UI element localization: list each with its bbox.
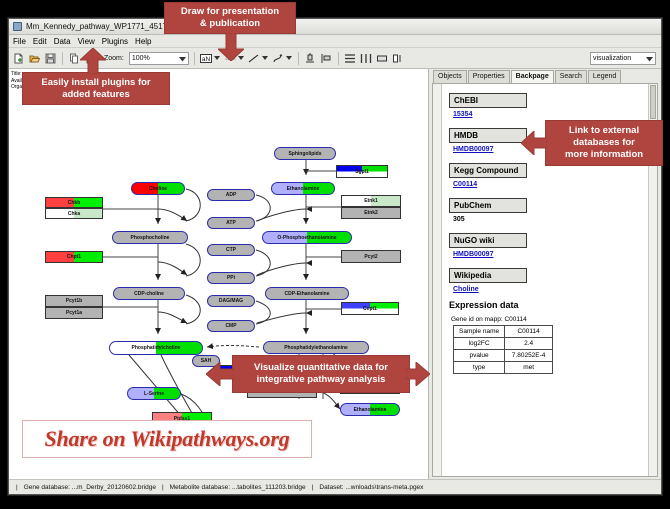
callout-plugins-line2: added features: [62, 89, 130, 101]
pathway-node-layer: SphingolipidsSgpl1EthanolamineCholineChk…: [9, 69, 429, 479]
pathway-node-chka[interactable]: Chka: [45, 208, 103, 219]
expr-cell-key: log2FC: [454, 338, 505, 350]
status-sep: |: [159, 484, 167, 491]
menu-item-help[interactable]: Help: [135, 37, 151, 46]
expr-cell-key: pvalue: [454, 350, 505, 362]
toolbar-separator: [338, 52, 339, 65]
zoom-value: 100%: [132, 55, 150, 62]
pathway-node-label: Chkb: [68, 200, 81, 206]
callout-visualize: Visualize quantitative data for integrat…: [232, 355, 410, 393]
menu-item-view[interactable]: View: [78, 37, 95, 46]
pubchem-value: 305: [453, 216, 657, 223]
table-row: pvalue 7.80252E-4: [454, 350, 553, 362]
pathway-node-phosphocholine[interactable]: Phosphocholine: [112, 231, 188, 244]
pathway-node-label: PPi: [227, 275, 235, 281]
pathway-node-label: Phosphatidylethanolamine: [284, 345, 348, 351]
pathway-node-label: Ethanolamine: [287, 186, 320, 192]
pathway-node-label: Pcyt1a: [66, 310, 82, 316]
save-file-icon[interactable]: [44, 52, 57, 65]
expr-cell-value: 2.4: [505, 338, 553, 350]
pathway-canvas[interactable]: Title: Availa Organ: [9, 69, 429, 479]
pathway-node-label: CDP-choline: [134, 291, 164, 297]
toolbar-separator: [194, 52, 195, 65]
svg-text:aN: aN: [202, 55, 211, 62]
nugo-wiki-link[interactable]: HMDB00097: [453, 251, 657, 258]
pathway-node-label: Chka: [68, 211, 80, 217]
pathway-node-label: ATP: [226, 220, 236, 226]
status-sep: |: [13, 484, 21, 491]
pathway-node-cdp-ethanolamine[interactable]: CDP-Ethanolamine: [265, 287, 349, 300]
pathway-node-label: Sgpl1: [355, 169, 369, 175]
callout-plugins-arrow-icon: [80, 48, 106, 74]
pathway-node-dagmag[interactable]: DAG/MAG: [207, 295, 255, 307]
new-file-icon[interactable]: [12, 52, 25, 65]
pathway-node-label: Ethanolamine: [354, 407, 387, 413]
pathway-node-sphingolipids[interactable]: Sphingolipids: [274, 147, 336, 160]
group-icon[interactable]: [376, 52, 389, 65]
zoom-select[interactable]: 100%: [129, 52, 189, 65]
title-bar: Mm_Kennedy_pathway_WP1771_45176.gpml: [9, 19, 661, 35]
pathway-node-label: Phosphocholine: [131, 235, 170, 241]
expr-cell-value: 7.80252E-4: [505, 350, 553, 362]
pathway-node-pcyt1b[interactable]: Pcyt1b: [45, 295, 103, 307]
status-gene-database: Gene database: ...m_Derby_20120602.bridg…: [21, 484, 159, 491]
callout-plugins: Easily install plugins for added feature…: [22, 72, 170, 105]
pathway-node-label: ADP: [226, 192, 237, 198]
pathway-node-label: O-Phosphoethanolamine: [277, 235, 336, 241]
pathway-node-l-serine-left[interactable]: L-Serine: [127, 387, 181, 400]
pathway-node-label: CDP-Ethanolamine: [284, 291, 329, 297]
pathway-node-cept1[interactable]: Cept1: [341, 302, 399, 315]
pathway-node-cdp-choline[interactable]: CDP-choline: [113, 287, 185, 300]
interaction-dropdown-icon[interactable]: [286, 52, 293, 65]
pathway-node-adp[interactable]: ADP: [207, 189, 255, 201]
tab-objects[interactable]: Objects: [433, 70, 467, 83]
pathway-node-label: Chpt1: [67, 254, 81, 260]
callout-draw-line1: Draw for presentation: [181, 6, 279, 18]
pathway-node-etnk2[interactable]: Etnk2: [341, 207, 401, 219]
app-icon: [13, 22, 22, 31]
pathway-node-label: Sphingolipids: [288, 151, 321, 157]
pathway-node-label: Cept1: [363, 306, 377, 312]
data-node-icon[interactable]: aN: [200, 52, 213, 65]
pathway-node-atp[interactable]: ATP: [207, 217, 255, 229]
visualization-value: visualization: [593, 55, 631, 62]
pathway-node-label: Phosphatidylcholine: [132, 345, 181, 351]
pathway-node-chpt1[interactable]: Chpt1: [45, 251, 103, 263]
pathway-node-label: Choline: [149, 186, 167, 192]
share-wikipathways-box: Share on Wikipathways.org: [22, 420, 312, 458]
menu-item-file[interactable]: File: [13, 37, 26, 46]
callout-link-line1: Link to external: [569, 125, 639, 137]
pubchem-header: PubChem: [449, 198, 527, 213]
chebi-header: ChEBI: [449, 93, 527, 108]
share-wikipathways-text: Share on Wikipathways.org: [44, 426, 289, 452]
stack-icon[interactable]: [344, 52, 357, 65]
wikipedia-link[interactable]: Choline: [453, 286, 657, 293]
table-row: type met: [454, 362, 553, 374]
chebi-link[interactable]: 15354: [453, 111, 657, 118]
pathway-node-label: CMP: [225, 323, 236, 329]
nugo-wiki-header: NuGO wiki: [449, 233, 527, 248]
callout-visualize-line2: integrative pathway analysis: [257, 374, 386, 386]
menu-item-plugins[interactable]: Plugins: [102, 37, 128, 46]
pathway-node-phosphatidylethanolamine[interactable]: Phosphatidylethanolamine: [263, 341, 369, 354]
callout-visualize-arrow-icon: [206, 362, 234, 386]
visualization-select[interactable]: visualization: [590, 52, 656, 65]
wikipedia-header: Wikipedia: [449, 268, 527, 283]
status-dataset: Dataset: ...wnloads\trans-meta.pgex: [316, 484, 426, 491]
pathway-node-ctp[interactable]: CTP: [207, 244, 255, 256]
line-dropdown-icon[interactable]: [262, 52, 269, 65]
pathway-node-label: Pcyt1b: [66, 298, 82, 304]
pathway-node-label: DAG/MAG: [219, 298, 243, 304]
callout-plugins-line1: Easily install plugins for: [41, 77, 150, 89]
pathway-node-ethanolamine-right[interactable]: Ethanolamine: [340, 403, 400, 416]
callout-link-line3: more information: [565, 149, 643, 161]
pathway-node-pcyt2[interactable]: Pcyt2: [341, 250, 401, 263]
table-row: Sample name C00114: [454, 326, 553, 338]
pathway-node-choline-top[interactable]: Choline: [131, 182, 185, 195]
toolbar-separator: [62, 52, 63, 65]
pathway-node-label: Etnk2: [364, 210, 378, 216]
gene-id-on-mapp: Gene id on mapp: C00114: [451, 316, 657, 323]
tab-backpage[interactable]: Backpage: [511, 70, 554, 83]
expr-cell-value: C00114: [505, 326, 553, 338]
tab-search[interactable]: Search: [555, 70, 587, 83]
callout-visualize-line1: Visualize quantitative data for: [254, 362, 388, 374]
tool-bar: Zoom: 100% aN Label: [9, 48, 661, 69]
callout-link-line2: databases for: [573, 137, 635, 149]
callout-draw-line2: & publication: [200, 18, 260, 30]
side-panel-tabs: Objects Properties Backpage Search Legen…: [429, 69, 661, 83]
pathway-node-label: L-Serine: [144, 391, 164, 397]
expr-cell-value: met: [505, 362, 553, 374]
table-row: log2FC 2.4: [454, 338, 553, 350]
chevron-down-icon: [646, 57, 653, 64]
expression-table: Sample name C00114 log2FC 2.4 pvalue 7.8…: [453, 325, 553, 374]
status-bar: | Gene database: ...m_Derby_20120602.bri…: [9, 479, 661, 494]
pathway-node-cmp[interactable]: CMP: [207, 320, 255, 332]
interaction-tool-icon[interactable]: [272, 52, 285, 65]
pathway-node-label: Pcyt2: [364, 254, 377, 260]
kegg-compound-header: Kegg Compound: [449, 163, 527, 178]
status-metabolite-database: Metabolite database: ...tabolites_111203…: [167, 484, 309, 491]
expression-data-title: Expression data: [449, 300, 657, 310]
distribute-icon[interactable]: [360, 52, 373, 65]
pathway-node-ppi[interactable]: PPi: [207, 272, 255, 284]
panel-left-gutter[interactable]: [433, 84, 442, 476]
callout-draw: Draw for presentation & publication: [164, 2, 296, 34]
pathway-node-pcyt1a[interactable]: Pcyt1a: [45, 307, 103, 319]
kegg-compound-link[interactable]: C00114: [453, 181, 657, 188]
status-sep: |: [309, 484, 317, 491]
ungroup-icon[interactable]: [392, 52, 405, 65]
menu-bar: File Edit Data View Plugins Help: [9, 35, 661, 48]
pathway-node-label: Etnk1: [364, 198, 378, 204]
pathway-node-etnk1[interactable]: Etnk1: [341, 195, 401, 207]
pathway-node-sgpl1[interactable]: Sgpl1: [336, 165, 388, 178]
tab-properties[interactable]: Properties: [468, 70, 510, 83]
callout-link-databases: Link to external databases for more info…: [545, 120, 663, 166]
pathway-node-phosphatidylcholine[interactable]: Phosphatidylcholine: [109, 341, 203, 355]
pathway-node-ethanolamine[interactable]: Ethanolamine: [271, 182, 335, 195]
menu-item-data[interactable]: Data: [54, 37, 71, 46]
callout-draw-arrow-icon: [218, 33, 244, 61]
callout-visualize-right-arrow-icon: [406, 362, 430, 386]
align-top-icon[interactable]: [304, 52, 317, 65]
callout-link-arrow-icon: [521, 131, 547, 155]
tab-legend[interactable]: Legend: [588, 70, 621, 83]
line-tool-icon[interactable]: [248, 52, 261, 65]
hmdb-header: HMDB: [449, 128, 527, 143]
align-left-icon[interactable]: [320, 52, 333, 65]
pathway-node-label: CTP: [226, 247, 236, 253]
open-file-icon[interactable]: [28, 52, 41, 65]
zoom-label: Zoom:: [104, 55, 124, 62]
chevron-down-icon: [179, 57, 186, 64]
expr-cell-key: Sample name: [454, 326, 505, 338]
toolbar-separator: [298, 52, 299, 65]
scrollbar-thumb[interactable]: [650, 85, 656, 119]
menu-item-edit[interactable]: Edit: [33, 37, 47, 46]
pathway-node-o-phosphoethanolamine[interactable]: O-Phosphoethanolamine: [262, 231, 352, 244]
pathway-node-chkb[interactable]: Chkb: [45, 197, 103, 208]
expr-cell-key: type: [454, 362, 505, 374]
